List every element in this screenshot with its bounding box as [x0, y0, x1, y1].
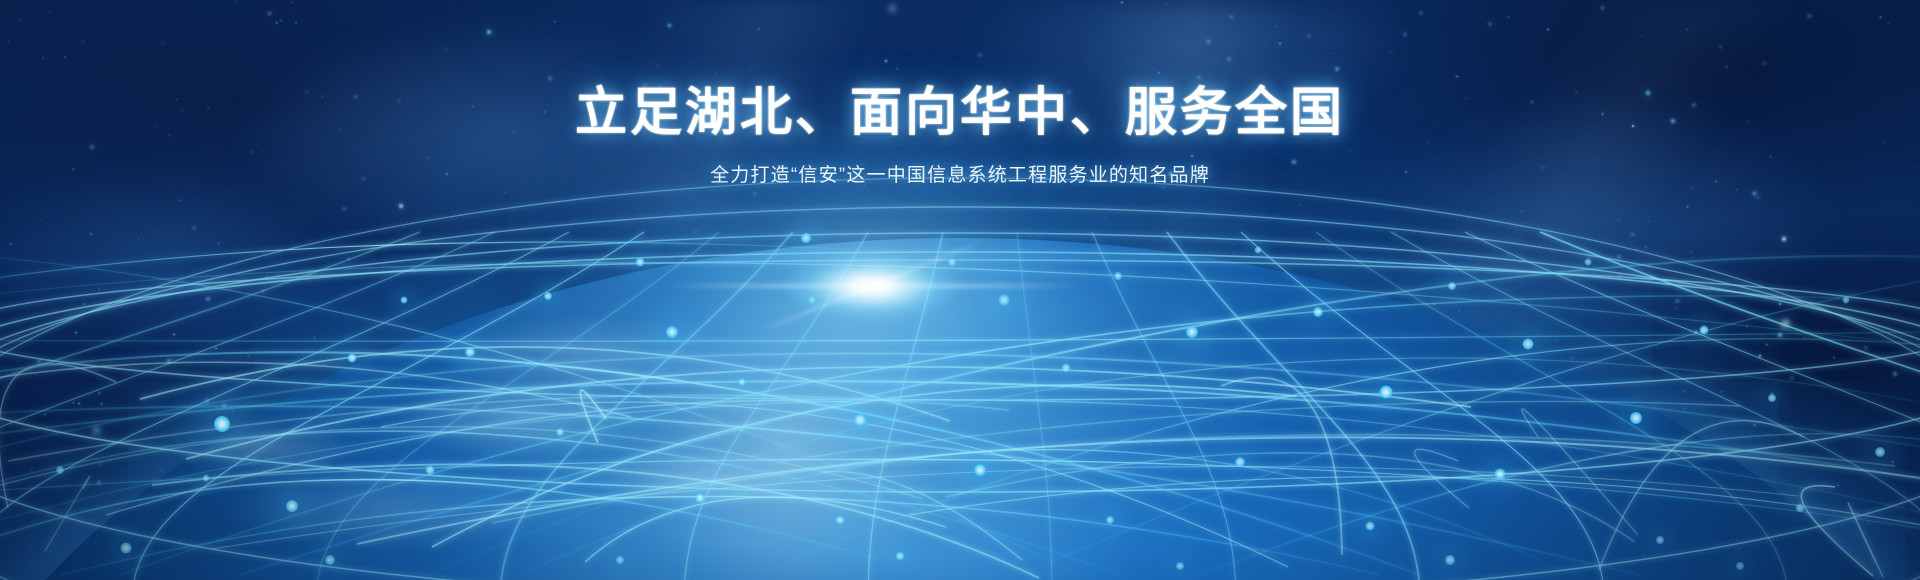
light-flare-core	[787, 253, 957, 319]
page-subtitle: 全力打造“信安”这一中国信息系统工程服务业的知名品牌	[0, 162, 1920, 191]
hero-banner: 立足湖北、面向华中、服务全国 全力打造“信安”这一中国信息系统工程服务业的知名品…	[0, 0, 1920, 580]
banner-copy: 立足湖北、面向华中、服务全国 全力打造“信安”这一中国信息系统工程服务业的知名品…	[0, 84, 1920, 191]
page-title: 立足湖北、面向华中、服务全国	[0, 84, 1920, 142]
